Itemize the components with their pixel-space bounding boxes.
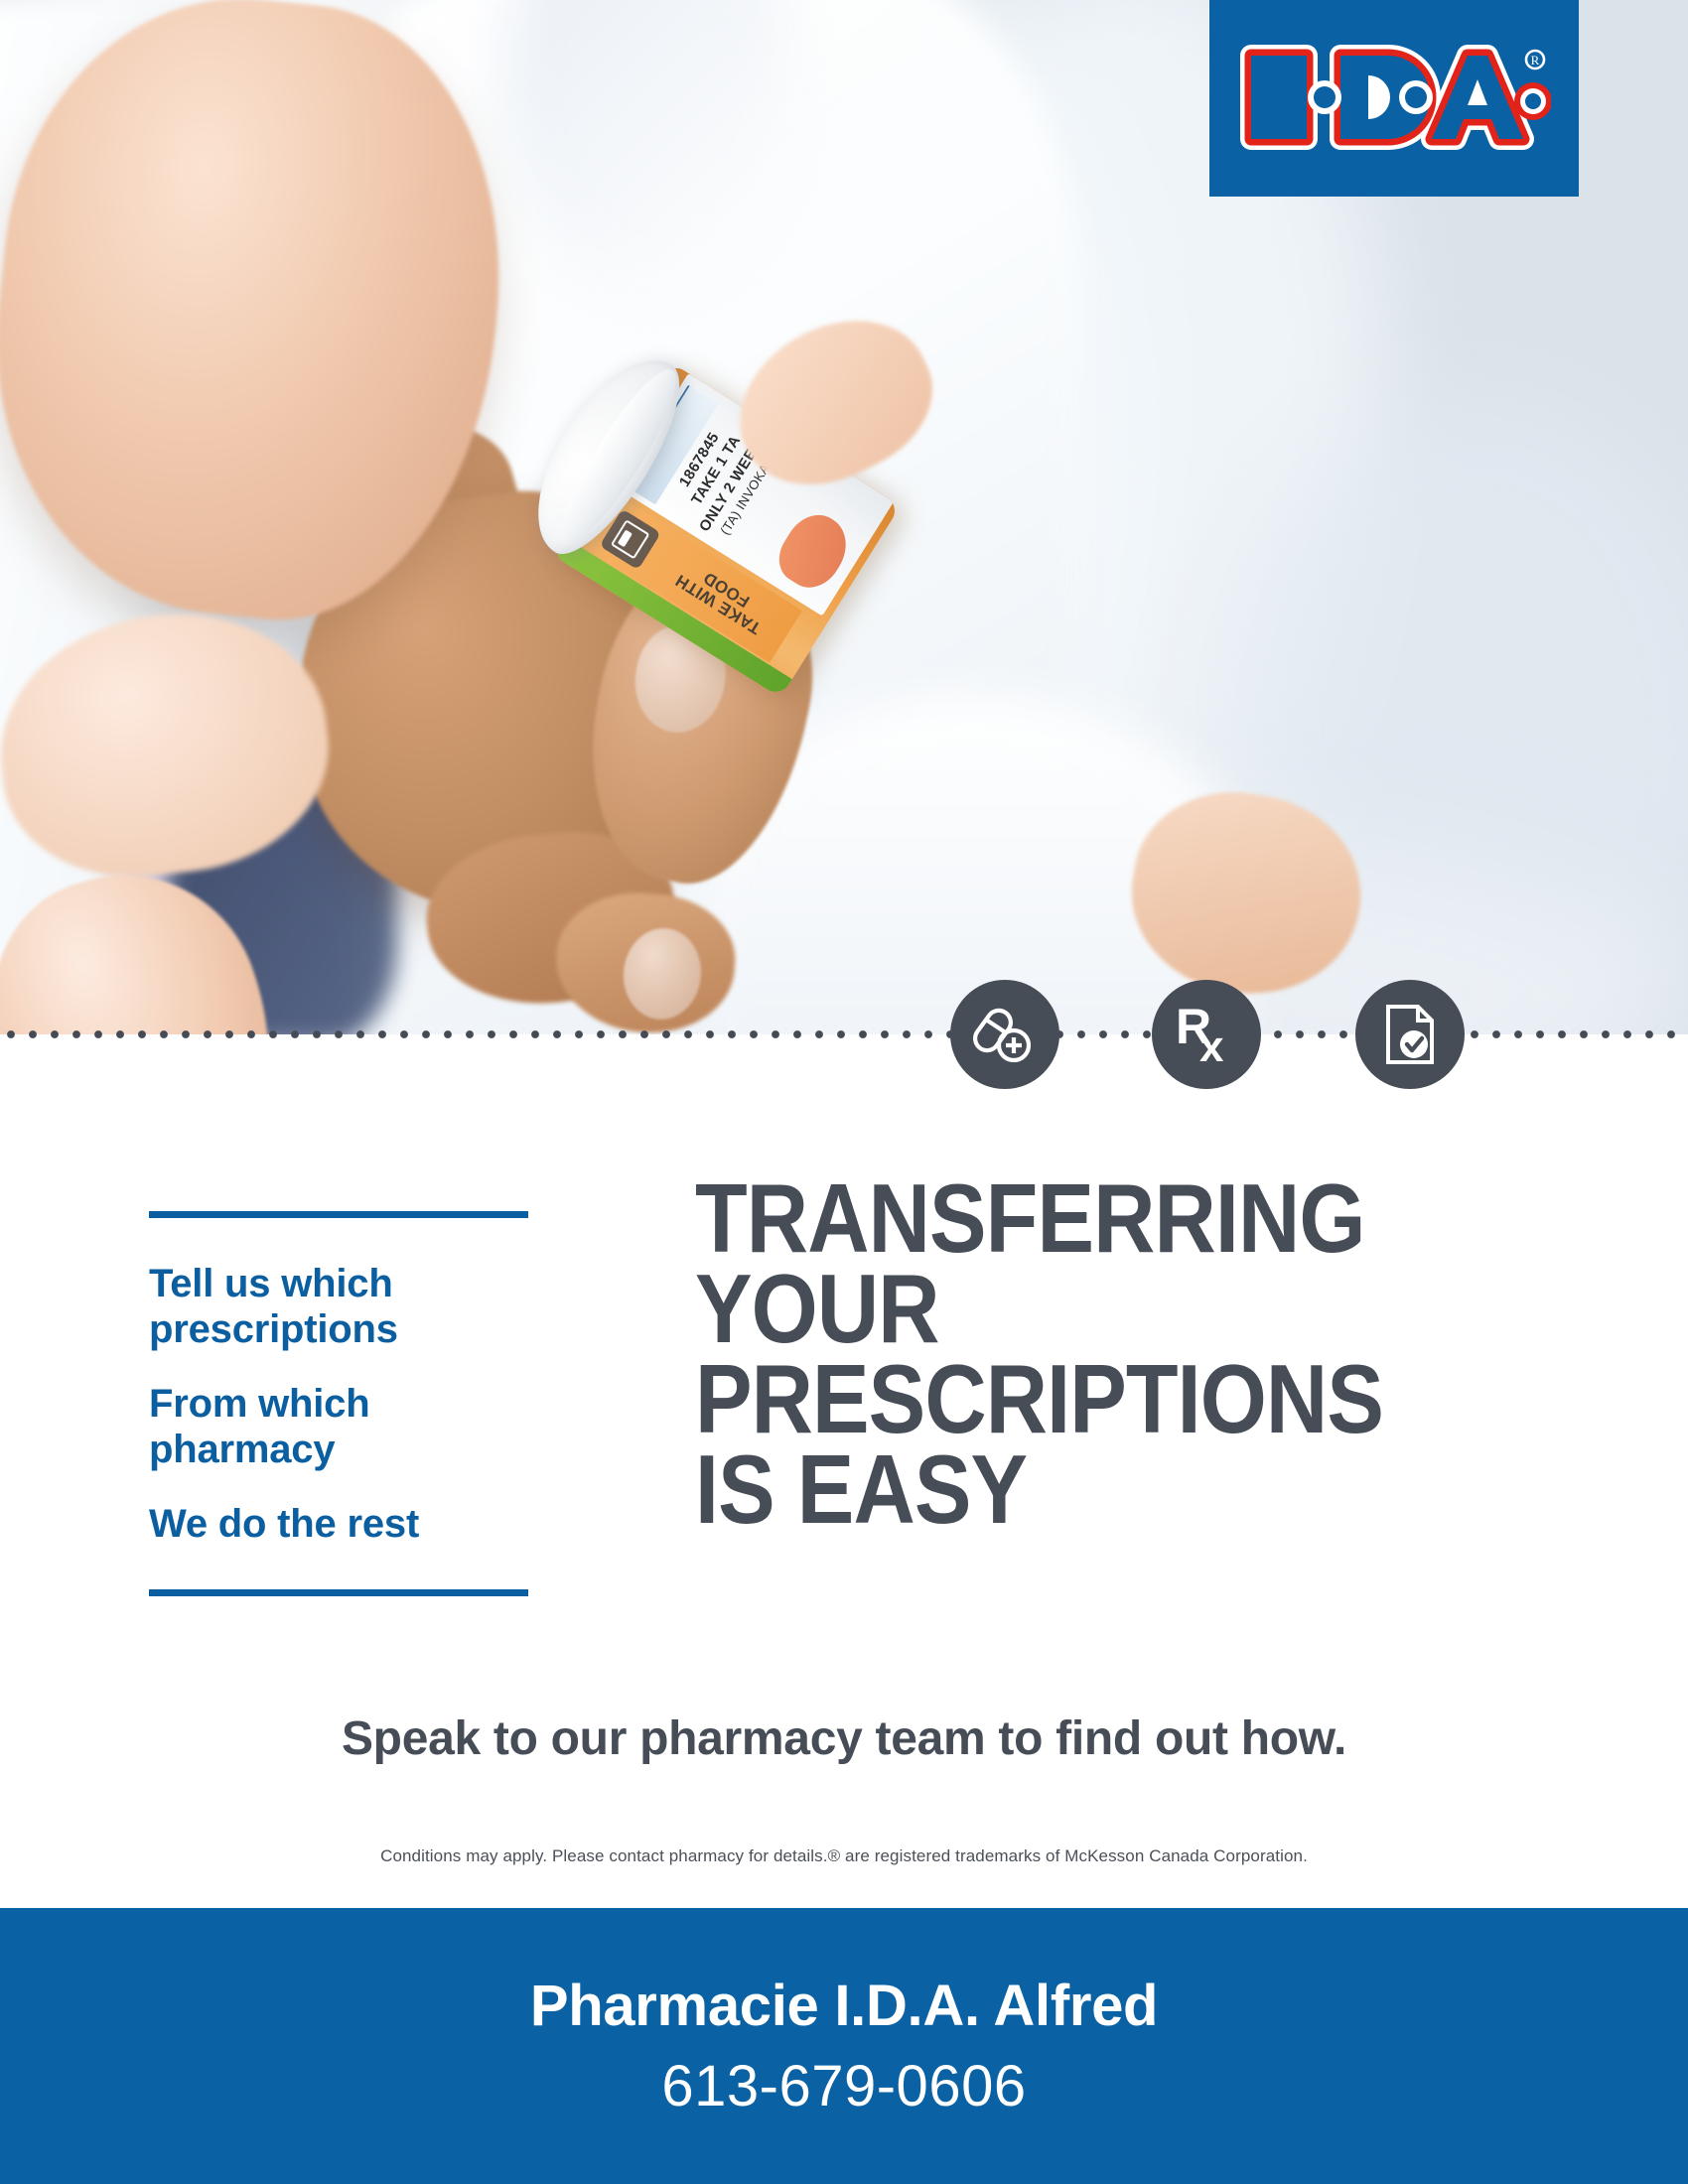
bullet-list: Tell us which prescriptions From which p… [149,1211,528,1596]
content-area: Tell us which prescriptions From which p… [0,1034,1688,1908]
svg-text:R: R [1531,53,1540,68]
ida-logo-mark: R [1237,42,1551,153]
bullet-rule-top [149,1211,528,1218]
store-footer: Pharmacie I.D.A. Alfred 613-679-0606 [0,1908,1688,2184]
legal-fine-print: Conditions may apply. Please contact pha… [0,1846,1688,1866]
headline-line-2: YOUR [695,1264,1464,1354]
bullet-rule-bottom [149,1589,528,1596]
registered-trademark-icon: R [1526,51,1544,68]
subheadline: Speak to our pharmacy team to find out h… [0,1711,1688,1766]
headline-line-3: PRESCRIPTIONS [695,1354,1464,1444]
bullet-item-3: We do the rest [149,1502,528,1548]
headline-line-4: IS EASY [695,1444,1464,1535]
bullet-item-1: Tell us which prescriptions [149,1262,528,1352]
poster: TAKE WITH FOOD 1867845 TAKE 1 TA ONLY 2 … [0,0,1688,2184]
headline-line-1: TRANSFERRING [695,1173,1464,1264]
page-title: TRANSFERRING YOUR PRESCRIPTIONS IS EASY [695,1173,1464,1536]
ida-logo: R [1209,0,1579,197]
store-phone[interactable]: 613-679-0606 [661,2053,1026,2119]
store-name: Pharmacie I.D.A. Alfred [530,1973,1158,2039]
bullet-item-2: From which pharmacy [149,1382,528,1472]
